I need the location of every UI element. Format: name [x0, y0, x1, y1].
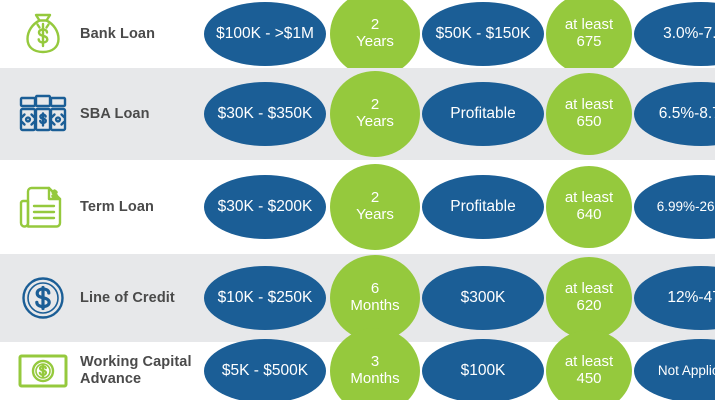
cell-text: 6.99%-26.99%: [634, 199, 715, 214]
loan-row-header: Line of Credit: [0, 254, 200, 342]
loan-row: Working Capital Advance$5K - $500K3Month…: [0, 342, 715, 400]
cell-text: at least650: [546, 97, 632, 131]
cell-text: Profitable: [422, 105, 544, 122]
cash-note-icon: [12, 340, 74, 400]
cell-text: 2Years: [330, 97, 420, 131]
cell-text: $30K - $200K: [204, 198, 326, 215]
rate-cell: 6.99%-26.99%: [634, 175, 715, 239]
loan-row-header: Working Capital Advance: [0, 342, 200, 400]
cell-text: $100K: [422, 362, 544, 379]
loan-row-cells: $30K - $200K2YearsProfitableat least6406…: [200, 160, 715, 254]
loan-type-label: SBA Loan: [80, 106, 150, 123]
loan-row-cells: $100K - >$1M2Years$50K - $150Kat least67…: [200, 0, 715, 68]
loan-row-header: SBA Loan: [0, 68, 200, 160]
cell-text: 2Years: [330, 17, 420, 51]
cell-text: 6.5%-8.75%: [634, 105, 715, 122]
loan-amount-cell: $30K - $350K: [204, 82, 326, 146]
rate-cell: 3.0%-7.0%: [634, 2, 715, 66]
credit-score-cell: at least675: [546, 0, 632, 75]
cell-text: at least620: [546, 281, 632, 315]
loan-comparison-table: Bank Loan$100K - >$1M2Years$50K - $150Ka…: [0, 0, 715, 400]
loan-row-cells: $10K - $250K6Months$300Kat least62012%-4…: [200, 254, 715, 342]
cell-text: $100K - >$1M: [204, 25, 326, 42]
annual-revenue-cell: Profitable: [422, 175, 544, 239]
rate-cell: 12%-47%: [634, 266, 715, 330]
loan-row-cells: $30K - $350K2YearsProfitableat least6506…: [200, 68, 715, 160]
annual-revenue-cell: Profitable: [422, 82, 544, 146]
cell-text: at least675: [546, 17, 632, 51]
cell-text: Profitable: [422, 198, 544, 215]
loan-type-label: Term Loan: [80, 199, 154, 216]
cell-text: Not Applicable: [634, 363, 715, 378]
loan-row: Bank Loan$100K - >$1M2Years$50K - $150Ka…: [0, 0, 715, 68]
loan-type-label: Bank Loan: [80, 26, 155, 43]
cell-text: 3Months: [330, 354, 420, 388]
cell-text: $10K - $250K: [204, 289, 326, 306]
annual-revenue-cell: $50K - $150K: [422, 2, 544, 66]
credit-score-cell: at least650: [546, 73, 632, 155]
annual-revenue-cell: $300K: [422, 266, 544, 330]
cell-text: 6Months: [330, 281, 420, 315]
cell-text: $30K - $350K: [204, 105, 326, 122]
time-in-business-cell: 2Years: [330, 164, 420, 250]
loan-type-label: Working Capital Advance: [80, 354, 198, 387]
cell-text: 12%-47%: [634, 289, 715, 306]
credit-score-cell: at least640: [546, 166, 632, 248]
cell-text: $5K - $500K: [204, 362, 326, 379]
loan-row-header: Term Loan: [0, 160, 200, 254]
cell-text: $50K - $150K: [422, 25, 544, 42]
cell-text: $300K: [422, 289, 544, 306]
cell-text: 3.0%-7.0%: [634, 25, 715, 42]
rate-cell: Not Applicable: [634, 339, 715, 400]
loan-row-cells: $5K - $500K3Months$100Kat least450Not Ap…: [200, 342, 715, 400]
cash-stack-icon: [12, 83, 74, 145]
loan-amount-cell: $30K - $200K: [204, 175, 326, 239]
loan-row-header: Bank Loan: [0, 0, 200, 68]
cell-text: at least450: [546, 354, 632, 388]
loan-amount-cell: $100K - >$1M: [204, 2, 326, 66]
invoice-document-icon: [12, 176, 74, 238]
loan-row: Term Loan$30K - $200K2YearsProfitableat …: [0, 160, 715, 254]
credit-score-cell: at least620: [546, 257, 632, 339]
time-in-business-cell: 2Years: [330, 0, 420, 77]
dollar-coin-icon: [12, 267, 74, 329]
cell-text: at least640: [546, 190, 632, 224]
loan-amount-cell: $5K - $500K: [204, 339, 326, 400]
loan-row: SBA Loan$30K - $350K2YearsProfitableat l…: [0, 68, 715, 160]
money-bag-icon: [12, 3, 74, 65]
rate-cell: 6.5%-8.75%: [634, 82, 715, 146]
loan-amount-cell: $10K - $250K: [204, 266, 326, 330]
loan-type-label: Line of Credit: [80, 290, 175, 307]
loan-row: Line of Credit$10K - $250K6Months$300Kat…: [0, 254, 715, 342]
cell-text: 2Years: [330, 190, 420, 224]
time-in-business-cell: 2Years: [330, 71, 420, 157]
annual-revenue-cell: $100K: [422, 339, 544, 400]
